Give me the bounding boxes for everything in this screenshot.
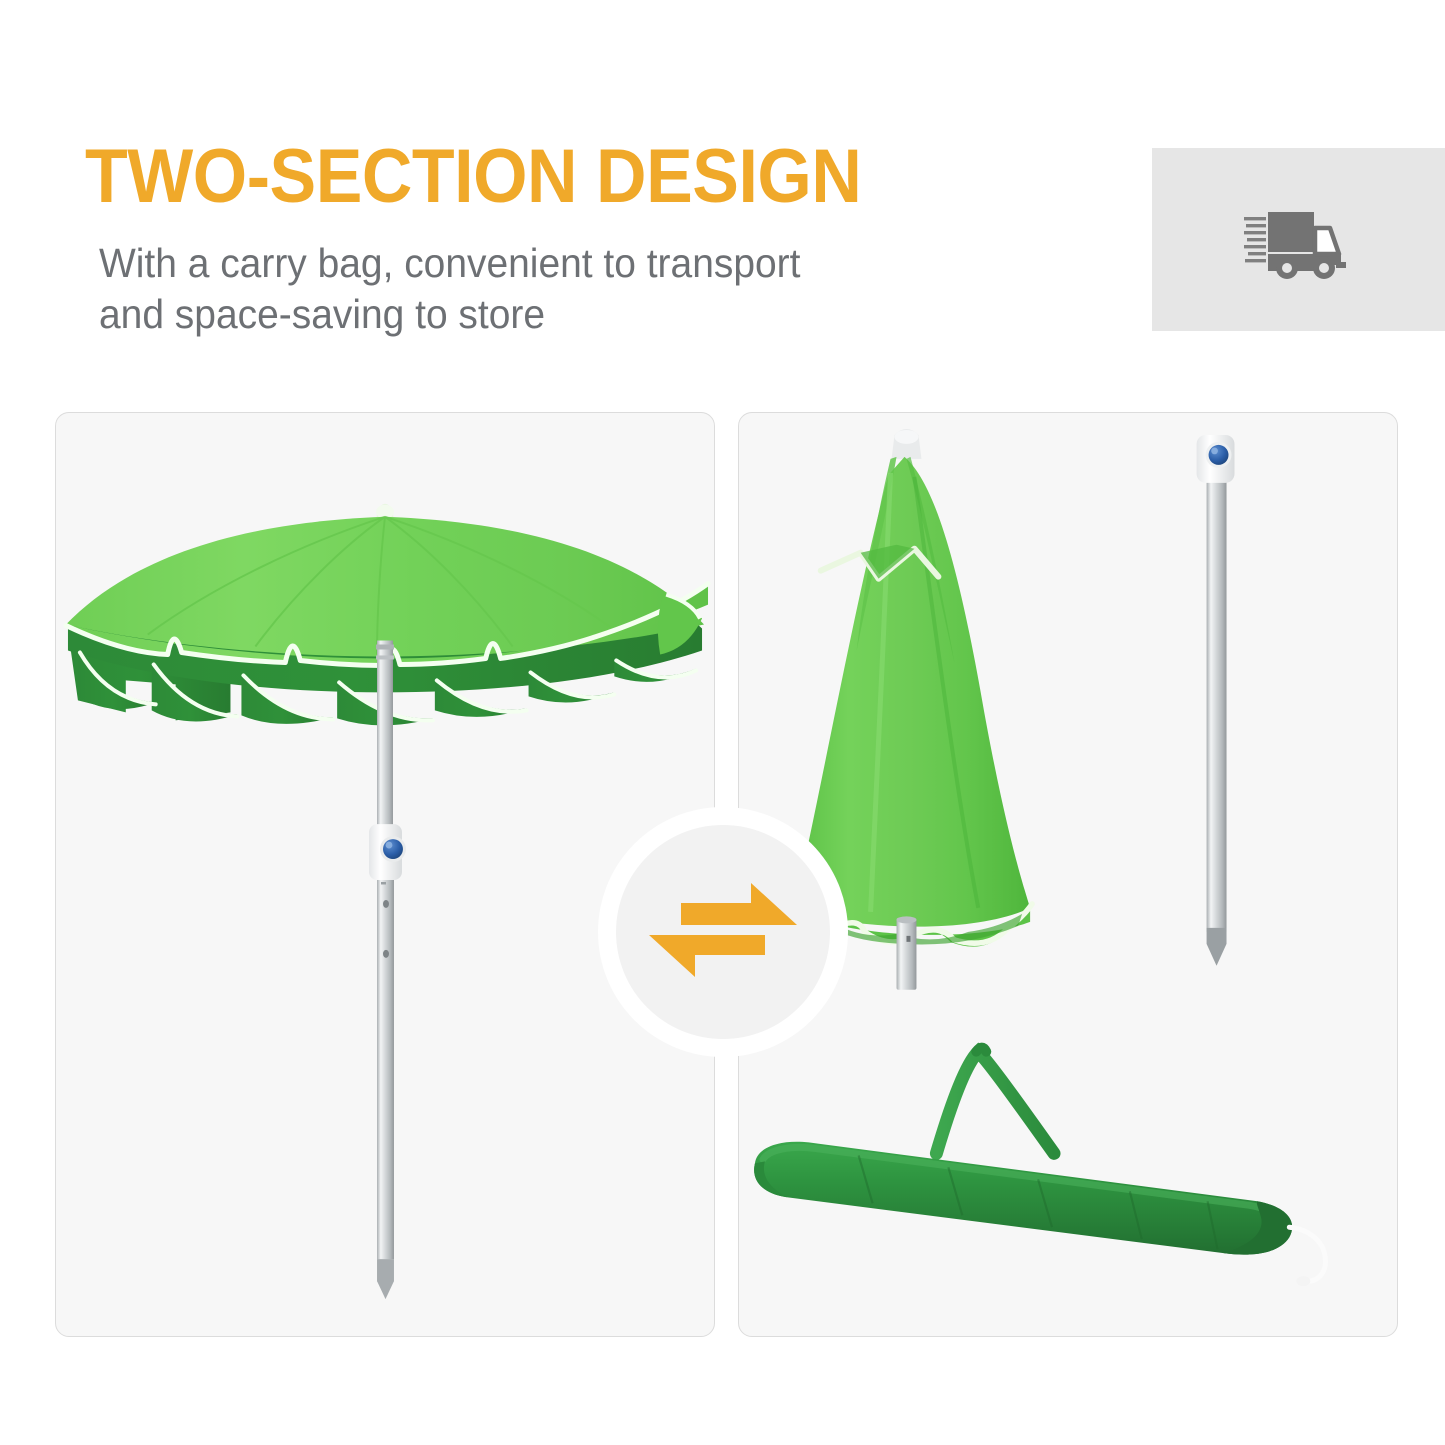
two-way-arrows-icon [647, 881, 799, 984]
header-block: TWO-SECTION DESIGN With a carry bag, con… [85, 138, 1085, 340]
umbrella-disassembled-illustration [739, 413, 1397, 1336]
lower-pole-section [1197, 435, 1235, 966]
swap-badge [598, 807, 848, 1057]
page-subtitle: With a carry bag, convenient to transpor… [99, 238, 1036, 340]
disassembled-umbrella-panel [738, 412, 1398, 1337]
shipping-badge [1152, 148, 1445, 331]
page-title: TWO-SECTION DESIGN [85, 138, 1005, 216]
swap-badge-inner [616, 825, 830, 1039]
carry-bag [754, 1048, 1325, 1286]
